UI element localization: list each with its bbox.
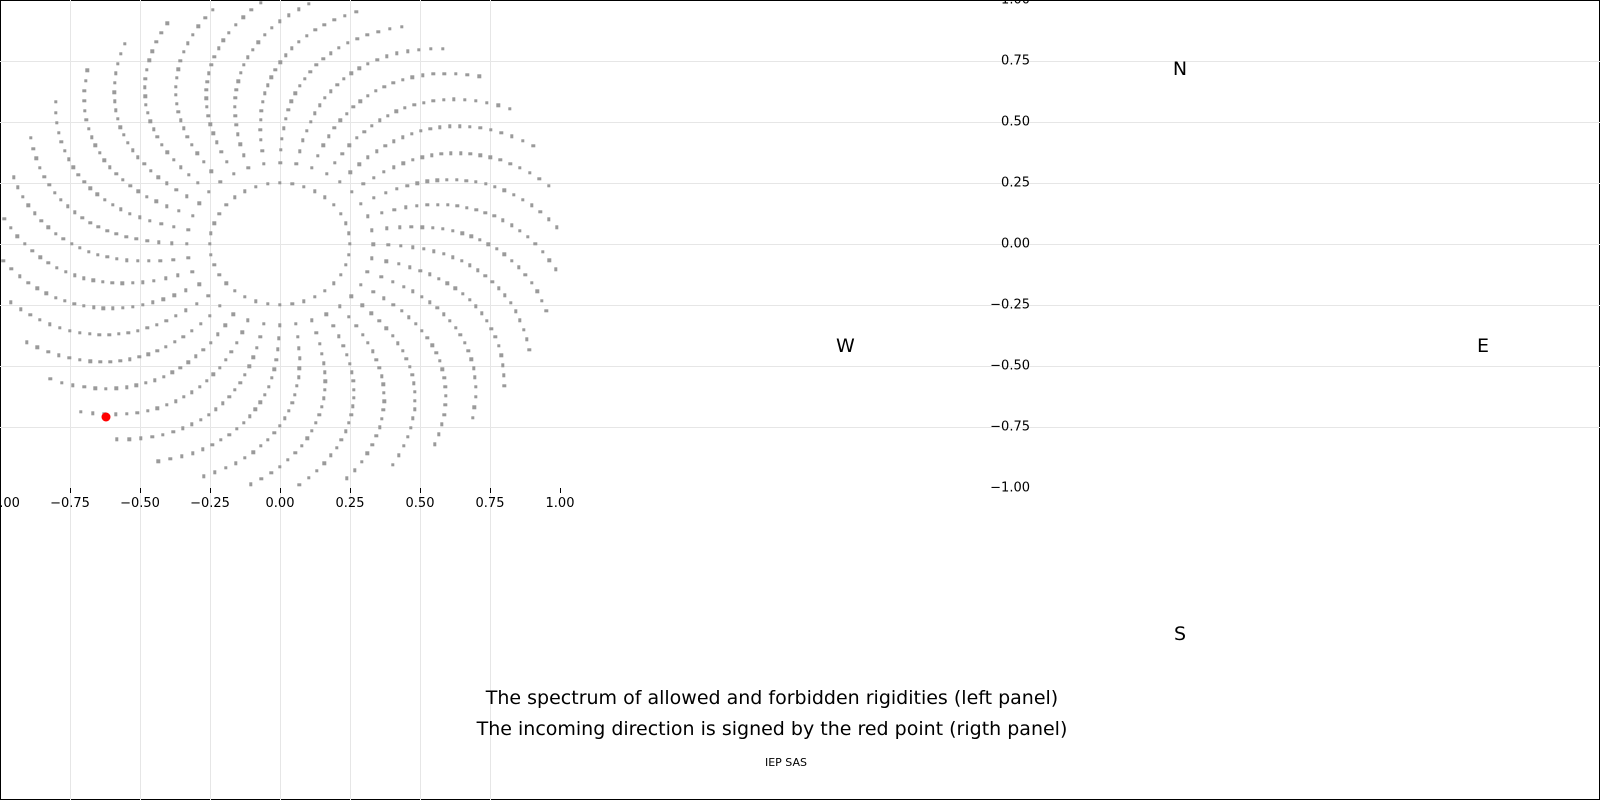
direction-dot: [386, 243, 389, 246]
gridline-vertical: [350, 0, 351, 800]
direction-dot: [410, 132, 413, 135]
direction-dot: [28, 313, 31, 316]
direction-dot: [358, 163, 361, 166]
direction-dot: [205, 80, 208, 83]
direction-dot: [356, 37, 359, 40]
direction-dot: [443, 376, 446, 379]
direction-dot: [522, 328, 525, 331]
direction-dot: [57, 354, 60, 357]
direction-dot: [474, 208, 477, 211]
direction-dot: [528, 171, 531, 174]
direction-dot: [73, 274, 76, 277]
direction-dot: [343, 14, 346, 17]
direction-dot: [391, 280, 394, 283]
direction-dot: [323, 462, 326, 465]
direction-dot: [305, 437, 308, 440]
direction-dot: [197, 25, 200, 28]
direction-dot: [260, 149, 263, 152]
direction-dot: [339, 212, 342, 215]
x-axis-tick: [420, 488, 421, 493]
direction-dot: [260, 109, 263, 112]
direction-dot: [23, 242, 26, 245]
direction-dot: [198, 283, 201, 286]
direction-dot: [211, 443, 214, 446]
direction-dot: [484, 211, 487, 214]
direction-dot: [503, 253, 506, 256]
x-axis-tick-label: −1.00: [0, 496, 20, 511]
direction-dot: [532, 144, 535, 147]
direction-dot: [402, 444, 405, 447]
direction-dot: [430, 344, 433, 347]
direction-dot: [280, 137, 283, 140]
direction-dot: [421, 74, 424, 77]
direction-dot: [146, 326, 149, 329]
direction-dot: [493, 214, 496, 217]
direction-dot: [290, 182, 293, 185]
direction-dot: [83, 99, 86, 102]
direction-dot: [251, 48, 254, 51]
direction-dot: [318, 104, 321, 107]
direction-dot: [147, 353, 150, 356]
direction-dot: [92, 306, 95, 309]
direction-dot: [385, 227, 388, 230]
direction-dot: [323, 23, 326, 26]
direction-dot: [78, 246, 81, 249]
direction-dot: [478, 238, 481, 241]
direction-dot: [378, 366, 381, 369]
direction-dot: [391, 303, 394, 306]
direction-dot: [341, 152, 344, 155]
direction-dot: [209, 232, 212, 235]
direction-dot: [278, 61, 281, 64]
direction-dot: [441, 367, 444, 370]
direction-dot: [187, 173, 190, 176]
direction-dot: [139, 437, 142, 440]
direction-dot: [135, 237, 138, 240]
direction-dot: [409, 426, 412, 429]
direction-dot: [224, 466, 227, 469]
direction-dot: [138, 216, 141, 219]
direction-dot: [259, 444, 262, 447]
direction-dot: [73, 211, 76, 214]
direction-dot: [125, 385, 128, 388]
gridline-horizontal: [0, 366, 1600, 367]
direction-dot: [401, 136, 404, 139]
gridline-vertical: [490, 0, 491, 800]
direction-dot: [413, 390, 416, 393]
direction-dot: [310, 429, 313, 432]
direction-dot: [421, 225, 424, 228]
direction-dot: [71, 166, 74, 169]
direction-dot: [391, 334, 394, 337]
direction-dot: [484, 182, 487, 185]
direction-dot: [68, 356, 71, 359]
direction-dot: [371, 243, 374, 246]
direction-dot: [380, 211, 383, 214]
direction-dot: [169, 457, 172, 460]
direction-dot: [278, 424, 281, 427]
direction-dot: [349, 295, 352, 298]
direction-dot: [278, 303, 281, 306]
direction-dot: [27, 204, 30, 207]
direction-dot: [108, 166, 111, 169]
direction-dot: [232, 312, 235, 315]
direction-dot: [313, 112, 316, 115]
direction-dot: [102, 307, 105, 310]
direction-dot: [155, 40, 158, 43]
direction-dot: [335, 446, 338, 449]
direction-dot: [175, 102, 178, 105]
direction-dot: [284, 54, 287, 57]
direction-dot: [279, 161, 282, 164]
direction-dot: [408, 365, 411, 368]
direction-dot: [323, 371, 326, 374]
x-axis-tick: [70, 488, 71, 493]
direction-dot: [385, 55, 388, 58]
gridline-vertical: [280, 0, 281, 800]
direction-dot: [151, 50, 154, 53]
direction-dot: [172, 294, 175, 297]
direction-dot: [472, 367, 475, 370]
direction-dot: [474, 395, 477, 398]
direction-dot: [359, 202, 362, 205]
direction-dot: [410, 373, 413, 376]
direction-dot: [161, 433, 164, 436]
direction-dot: [141, 280, 144, 283]
direction-dot: [521, 198, 524, 201]
x-axis-tick-label: −0.50: [120, 496, 160, 511]
direction-dot: [48, 377, 51, 380]
y-axis-tick-label: 0.75: [1001, 54, 1030, 69]
direction-dot: [109, 360, 112, 363]
direction-dot: [266, 302, 269, 305]
direction-dot: [111, 281, 114, 284]
direction-dot: [273, 431, 276, 434]
direction-dot: [374, 89, 377, 92]
direction-dot: [371, 350, 374, 353]
direction-dot: [420, 295, 423, 298]
direction-dot: [90, 135, 93, 138]
direction-dot: [337, 46, 340, 49]
direction-dot: [503, 189, 506, 192]
direction-dot: [480, 312, 483, 315]
direction-dot: [491, 280, 494, 283]
direction-dot: [96, 193, 99, 196]
direction-dot: [310, 166, 313, 169]
direction-dot: [451, 256, 454, 259]
direction-dot: [21, 195, 24, 198]
x-axis-tick-label: 0.50: [406, 496, 435, 511]
direction-dot: [216, 333, 219, 336]
direction-dot: [261, 100, 264, 103]
direction-dot: [325, 313, 328, 316]
direction-dot: [540, 299, 543, 302]
direction-dot: [30, 249, 33, 252]
direction-dot: [106, 255, 109, 258]
y-axis-tick-label: −0.25: [990, 298, 1030, 313]
caption-line-1: The spectrum of allowed and forbidden ri…: [486, 687, 1058, 709]
direction-dot: [375, 58, 378, 61]
direction-dot: [207, 413, 210, 416]
direction-dot: [235, 88, 238, 91]
direction-dot: [420, 329, 423, 332]
direction-dot: [416, 182, 419, 185]
direction-dot: [471, 416, 474, 419]
direction-dot: [287, 13, 290, 16]
direction-dot: [429, 127, 432, 130]
direction-dot: [187, 361, 190, 364]
direction-dot: [207, 72, 210, 75]
direction-dot: [208, 242, 211, 245]
y-axis-tick-label: −0.50: [990, 359, 1030, 374]
direction-dot: [375, 434, 378, 437]
direction-dot: [305, 129, 308, 132]
direction-dot: [442, 312, 445, 315]
direction-dot: [222, 39, 225, 42]
x-axis-tick: [350, 488, 351, 493]
direction-dot: [101, 280, 104, 283]
direction-dot: [355, 10, 358, 13]
direction-dot: [174, 85, 177, 88]
x-axis-tick: [560, 488, 561, 493]
direction-dot: [380, 374, 383, 377]
direction-dot: [351, 405, 354, 408]
direction-dot: [152, 128, 155, 131]
direction-dot: [419, 269, 422, 272]
direction-dot: [263, 92, 266, 95]
direction-dot: [48, 323, 51, 326]
direction-dot: [230, 350, 233, 353]
direction-dot: [358, 67, 361, 70]
direction-dot: [307, 2, 310, 5]
direction-dot: [184, 289, 187, 292]
direction-dot: [68, 329, 71, 332]
direction-dot: [3, 217, 6, 220]
direction-dot: [186, 42, 189, 45]
direction-dot: [84, 79, 87, 82]
direction-dot: [73, 302, 76, 305]
direction-dot: [284, 117, 287, 120]
direction-dot: [164, 345, 167, 348]
direction-dot: [144, 103, 147, 106]
direction-dot: [438, 359, 441, 362]
direction-dot: [474, 180, 477, 183]
direction-dot: [57, 131, 60, 134]
direction-dot: [179, 166, 182, 169]
direction-dot: [236, 80, 239, 83]
direction-dot: [82, 277, 85, 280]
gridline-horizontal: [0, 427, 1600, 428]
direction-dot: [196, 181, 199, 184]
direction-dot: [119, 52, 122, 55]
direction-dot: [370, 311, 373, 314]
gridline-horizontal: [0, 61, 1600, 62]
direction-dot: [116, 62, 119, 65]
direction-dot: [269, 76, 272, 79]
direction-dot: [113, 81, 116, 84]
direction-dot: [329, 52, 332, 55]
y-axis-tick-label: 0.25: [1001, 176, 1030, 191]
direction-dot: [320, 405, 323, 408]
direction-dot: [91, 279, 94, 282]
direction-dot: [351, 379, 354, 382]
direction-dot: [70, 242, 73, 245]
direction-dot: [210, 63, 213, 66]
direction-dot: [225, 203, 228, 206]
direction-dot: [137, 355, 140, 358]
direction-dot: [332, 203, 335, 206]
direction-dot: [267, 385, 270, 388]
direction-dot: [121, 282, 124, 285]
direction-dot: [473, 376, 476, 379]
direction-dot: [254, 300, 257, 303]
direction-dot: [227, 31, 230, 34]
direction-dot: [135, 384, 138, 387]
direction-dot: [96, 253, 99, 256]
direction-dot: [309, 120, 312, 123]
direction-dot: [340, 438, 343, 441]
direction-dot: [279, 148, 282, 151]
direction-dot: [458, 125, 461, 128]
direction-dot: [118, 359, 121, 362]
direction-dot: [172, 225, 175, 228]
direction-dot: [243, 189, 246, 192]
direction-dot: [338, 305, 341, 308]
direction-dot: [191, 270, 194, 273]
direction-dot: [333, 18, 336, 21]
direction-dot: [512, 193, 515, 196]
footer-credit: IEP SAS: [765, 756, 807, 769]
direction-dot: [125, 412, 128, 415]
direction-dot: [432, 99, 435, 102]
direction-dot: [508, 162, 511, 165]
direction-dot: [468, 264, 471, 267]
direction-dot: [182, 395, 185, 398]
direction-dot: [297, 8, 300, 11]
direction-dot: [460, 232, 463, 235]
direction-dot: [156, 135, 159, 138]
direction-dot: [366, 341, 369, 344]
direction-dot: [461, 292, 464, 295]
direction-dot: [219, 180, 222, 183]
direction-dot: [323, 96, 326, 99]
direction-dot: [452, 98, 455, 101]
direction-dot: [205, 379, 208, 382]
direction-dot: [347, 253, 350, 256]
direction-dot: [320, 352, 323, 355]
direction-dot: [125, 258, 128, 261]
direction-dot: [342, 344, 345, 347]
direction-dot: [338, 180, 341, 183]
direction-dot: [177, 209, 180, 212]
direction-dot: [172, 158, 175, 161]
direction-dot: [444, 385, 447, 388]
direction-dot: [474, 305, 477, 308]
incoming-direction-point: [102, 413, 111, 422]
direction-dot: [345, 477, 348, 480]
direction-dot: [185, 195, 188, 198]
direction-dot: [407, 316, 410, 319]
direction-dot: [329, 89, 332, 92]
direction-dot: [29, 136, 32, 139]
direction-dot: [469, 152, 472, 155]
direction-dot: [410, 225, 413, 228]
direction-dot: [79, 410, 82, 413]
direction-dot: [412, 103, 415, 106]
direction-dot: [287, 409, 290, 412]
direction-dot: [143, 94, 146, 97]
direction-dot: [174, 93, 177, 96]
direction-dot: [293, 451, 296, 454]
direction-dot: [202, 160, 205, 163]
direction-dot: [103, 198, 106, 201]
direction-dot: [157, 175, 160, 178]
direction-dot: [454, 287, 457, 290]
direction-dot: [199, 322, 202, 325]
direction-dot: [55, 121, 58, 124]
direction-dot: [337, 335, 340, 338]
direction-dot: [58, 326, 61, 329]
direction-dot: [187, 256, 190, 259]
direction-dot: [136, 329, 139, 332]
direction-dot: [465, 206, 468, 209]
direction-dot: [64, 270, 67, 273]
direction-dot: [371, 443, 374, 446]
direction-dot: [217, 47, 220, 50]
direction-dot: [479, 154, 482, 157]
direction-dot: [298, 150, 301, 153]
direction-dot: [62, 237, 65, 240]
direction-dot: [156, 406, 159, 409]
direction-dot: [502, 374, 505, 377]
direction-dot: [131, 281, 134, 284]
direction-dot: [198, 202, 201, 205]
direction-dot: [119, 125, 122, 128]
direction-dot: [174, 188, 177, 191]
direction-dot: [322, 144, 325, 147]
gridline-horizontal: [0, 305, 1600, 306]
direction-dot: [94, 144, 97, 147]
direction-dot: [45, 292, 48, 295]
direction-dot: [106, 229, 109, 232]
direction-dot: [297, 376, 300, 379]
direction-dot: [233, 196, 236, 199]
direction-dot: [382, 408, 385, 411]
direction-dot: [333, 161, 336, 164]
direction-dot: [250, 8, 253, 11]
direction-dot: [534, 242, 537, 245]
direction-dot: [290, 302, 293, 305]
direction-dot: [413, 399, 416, 402]
direction-dot: [242, 153, 245, 156]
direction-dot: [218, 304, 221, 307]
direction-dot: [233, 114, 236, 117]
x-axis-tick: [490, 488, 491, 493]
direction-dot: [255, 346, 258, 349]
direction-dot: [521, 139, 524, 142]
direction-dot: [383, 85, 386, 88]
direction-dot: [63, 149, 66, 152]
direction-dot: [257, 40, 260, 43]
direction-dot: [455, 178, 458, 181]
direction-dot: [470, 358, 473, 361]
direction-dot: [362, 182, 365, 185]
direction-dot: [411, 417, 414, 420]
direction-dot: [38, 318, 41, 321]
direction-dot: [406, 435, 409, 438]
direction-dot: [415, 204, 418, 207]
direction-dot: [315, 469, 318, 472]
